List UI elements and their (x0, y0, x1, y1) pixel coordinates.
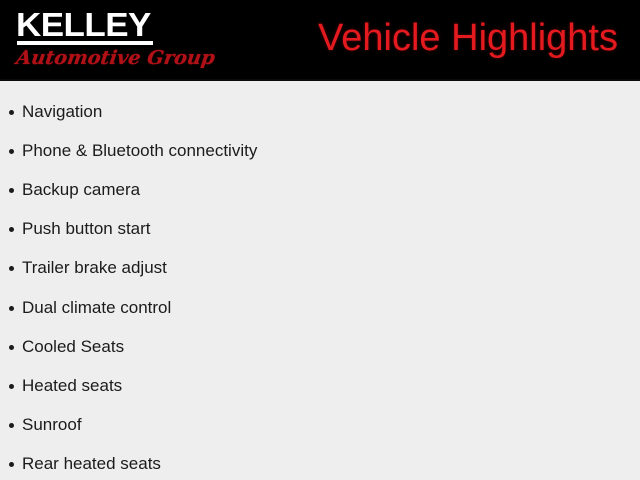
bullet-icon (9, 227, 14, 232)
list-item-label: Navigation (22, 102, 102, 122)
list-item: Sunroof (0, 406, 640, 445)
bullet-icon (9, 423, 14, 428)
list-item: Dual climate control (0, 288, 640, 327)
list-item-label: Sunroof (22, 415, 82, 435)
bullet-icon (9, 188, 14, 193)
list-item-label: Dual climate control (22, 298, 171, 318)
logo-script-text: Automotive Group (15, 46, 217, 70)
logo-divider-rule (17, 41, 153, 45)
list-item: Navigation (0, 92, 640, 131)
bullet-icon (9, 462, 14, 467)
bullet-icon (9, 149, 14, 154)
vehicle-highlights-list: Navigation Phone & Bluetooth connectivit… (0, 81, 640, 480)
bullet-icon (9, 306, 14, 311)
list-item: Cooled Seats (0, 327, 640, 366)
bullet-icon (9, 384, 14, 389)
list-item-label: Trailer brake adjust (22, 258, 167, 278)
list-item: Trailer brake adjust (0, 249, 640, 288)
list-item: Phone & Bluetooth connectivity (0, 131, 640, 170)
bullet-icon (9, 345, 14, 350)
list-item-label: Push button start (22, 219, 151, 239)
page-title: Vehicle Highlights (318, 14, 618, 62)
dealer-logo[interactable]: KELLEY Automotive Group (16, 8, 226, 74)
list-item-label: Rear heated seats (22, 454, 161, 474)
list-item-label: Heated seats (22, 376, 122, 396)
logo-wordmark: KELLEY (16, 8, 151, 42)
list-item: Rear heated seats (0, 445, 640, 480)
list-item: Push button start (0, 210, 640, 249)
list-item: Heated seats (0, 366, 640, 405)
header-banner: KELLEY Automotive Group Vehicle Highligh… (0, 0, 640, 81)
list-item: Backup camera (0, 170, 640, 209)
bullet-icon (9, 110, 14, 115)
list-item-label: Phone & Bluetooth connectivity (22, 141, 257, 161)
list-item-label: Backup camera (22, 180, 140, 200)
list-item-label: Cooled Seats (22, 337, 124, 357)
bullet-icon (9, 266, 14, 271)
vehicle-highlights-page: KELLEY Automotive Group Vehicle Highligh… (0, 0, 640, 480)
